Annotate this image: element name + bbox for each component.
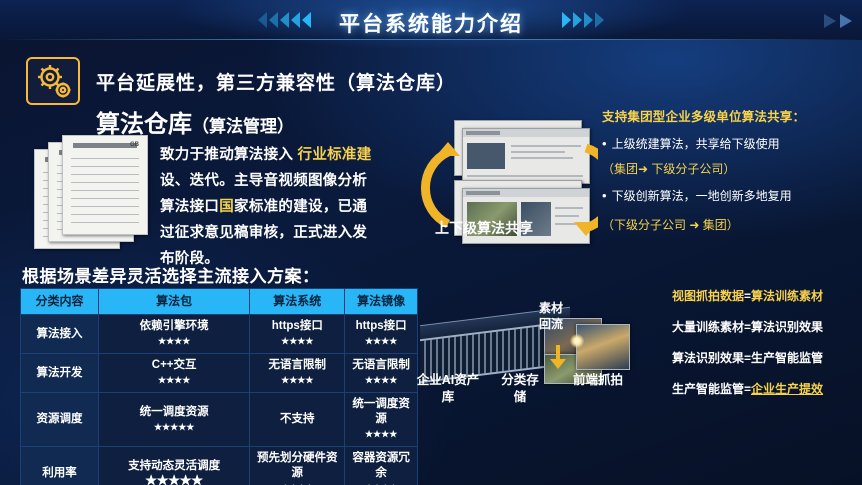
table-cell: 支持动态灵活调度★★★★★ [99, 447, 250, 485]
eq-sign: = [744, 351, 751, 365]
cell-stars: ★★★★ [347, 334, 415, 349]
intro-heading-main: 算法仓库 [96, 111, 192, 138]
table-cell: 统一调度资源★★★★★ [99, 393, 250, 447]
row-label: 算法开发 [21, 354, 99, 393]
eq-sign: = [744, 320, 751, 334]
table-cell: C++交互★★★★ [99, 354, 250, 393]
cell-text: 无语言限制 [352, 359, 410, 371]
cell-stars: ★★★★ [101, 373, 247, 388]
para-part1: 致力于推动算法接入 [160, 147, 298, 163]
intro-heading: 算法仓库（算法管理） [96, 104, 294, 139]
para-highlight-1: 行业标准建 [298, 147, 372, 163]
table-col-2: 算法系统 [250, 289, 345, 315]
eq-rhs: 算法训练素材 [751, 289, 823, 303]
eq-sign: = [744, 382, 751, 396]
slide-canvas: 平台系统能力介绍 [0, 0, 862, 485]
cell-stars: ★★★★ [252, 334, 342, 349]
eq-rhs: 生产智能监管 [751, 351, 823, 365]
table-cell: 不支持 [250, 393, 345, 447]
bullet-2-text: 下级创新算法，一地创新多地复用 [612, 188, 792, 205]
cell-text: 预先划分硬件资源 [257, 452, 338, 479]
equation-row: 生产智能监管=企业生产提效 [672, 381, 862, 397]
table-cell: 无语言限制★★★★ [250, 354, 345, 393]
table-col-1: 算法包 [99, 289, 250, 315]
table-row: 资源调度 统一调度资源★★★★★ 不支持 统一调度资源★★★★ [21, 393, 418, 447]
row-label: 资源调度 [21, 393, 99, 447]
eq-lhs: 生产智能监管 [672, 382, 744, 396]
equation-list: 视图抓拍数据=算法训练素材 大量训练素材=算法识别效果 算法识别效果=生产智能监… [672, 288, 862, 412]
bullet-dot-icon: • [602, 136, 607, 153]
para-part2: 设、迭代。 [160, 173, 234, 189]
eq-lhs: 视图抓拍数据 [672, 289, 744, 303]
table-row: 利用率 支持动态灵活调度★★★★★ 预先划分硬件资源★★★★ 容器资源冗余★★★… [21, 447, 418, 485]
cell-text: 容器资源冗余 [352, 452, 410, 479]
para-highlight-2: 国 [219, 199, 234, 215]
caption-classified-storage: 分类存储 [500, 372, 540, 406]
table-cell: https接口★★★★ [345, 315, 418, 354]
intro-heading-sub: （算法管理） [192, 117, 294, 136]
table-cell: https接口★★★★ [250, 315, 345, 354]
table-cell: 容器资源冗余★★★★ [345, 447, 418, 485]
sharing-bullets-title: 支持集团型企业多级单位算法共享： [602, 106, 852, 125]
cell-text: 不支持 [280, 413, 315, 425]
surveillance-capture-photo [576, 324, 630, 370]
page-title: 平台系统能力介绍 [0, 8, 862, 38]
table-col-3: 算法镜像 [345, 289, 418, 315]
cell-text: C++交互 [152, 359, 197, 371]
cell-stars: ★★★★ [347, 481, 415, 485]
access-plan-table: 分类内容 算法包 算法系统 算法镜像 算法接入 依赖引擎环境★★★★ https… [20, 288, 418, 485]
equation-row: 大量训练素材=算法识别效果 [672, 319, 862, 335]
list-item: • 下级创新算法，一地创新多地复用 [602, 188, 852, 205]
slide-header: 平台系统能力介绍 [0, 0, 862, 40]
intro-paragraph: 致力于推动算法接入 行业标准建设、迭代。主导音视频图像分析算法接口国家标准的建设… [160, 142, 378, 272]
down-arrow-icon [545, 345, 571, 371]
eq-lhs: 算法识别效果 [672, 351, 744, 365]
bullet-2-subtext: （下级分子公司 ➜ 集团） [602, 216, 852, 233]
eq-rhs: 企业生产提效 [751, 382, 823, 396]
cell-text: 支持动态灵活调度★★★★★ [128, 460, 220, 485]
flow-label: 素材回流 [534, 300, 568, 332]
cell-text: 统一调度资源 [352, 398, 410, 425]
cell-stars: ★★★★ [252, 373, 342, 388]
cell-text: https接口 [356, 320, 407, 332]
table-row: 算法开发 C++交互★★★★ 无语言限制★★★★ 无语言限制★★★★ [21, 354, 418, 393]
center-caption: 上下级算法共享 [424, 218, 544, 238]
caption-front-end-capture: 前端抓拍 [560, 372, 636, 389]
equation-row: 算法识别效果=生产智能监管 [672, 350, 862, 366]
cell-stars: ★★★★ [101, 334, 247, 349]
intro-line-1: 平台延展性，第三方兼容性（算法仓库） [96, 68, 456, 95]
document-badge-top: GB [130, 142, 139, 148]
section-heading: 根据场景差异灵活选择主流接入方案： [22, 262, 320, 287]
eq-sign: = [744, 289, 751, 303]
row-label: 算法接入 [21, 315, 99, 354]
table-cell: 依赖引擎环境★★★★ [99, 315, 250, 354]
cell-stars: ★★★★ [347, 373, 415, 388]
table-row: 算法接入 依赖引擎环境★★★★ https接口★★★★ https接口★★★★ [21, 315, 418, 354]
equation-row: 视图抓拍数据=算法训练素材 [672, 288, 862, 304]
eq-rhs: 算法识别效果 [751, 320, 823, 334]
cell-stars: ★★★★ [252, 481, 342, 485]
cell-stars: ★★★★ [347, 427, 415, 442]
highlight-glow [570, 334, 584, 348]
row-label: 利用率 [21, 447, 99, 485]
bullet-1-subtext: （集团➜ 下级分子公司） [602, 160, 852, 177]
table-header-row: 分类内容 算法包 算法系统 算法镜像 [21, 289, 418, 315]
gears-icon [26, 57, 80, 105]
cell-text: 依赖引擎环境 [140, 320, 209, 332]
caption-asset-library: 企业AI资产库 [416, 372, 480, 406]
table-col-0: 分类内容 [21, 289, 99, 315]
sharing-bullets: 支持集团型企业多级单位算法共享： • 上级统建算法，共享给下级使用 （集团➜ 下… [602, 106, 852, 233]
cell-text: 无语言限制 [269, 359, 327, 371]
table-cell: 无语言限制★★★★ [345, 354, 418, 393]
table-cell: 统一调度资源★★★★ [345, 393, 418, 447]
list-item: • 上级统建算法，共享给下级使用 [602, 136, 852, 153]
cell-stars: ★★★★★ [101, 420, 247, 435]
bullet-1-text: 上级统建算法，共享给下级使用 [612, 136, 780, 153]
eq-lhs: 大量训练素材 [672, 320, 744, 334]
table-cell: 预先划分硬件资源★★★★ [250, 447, 345, 485]
bullet-dot-icon: • [602, 188, 607, 205]
cell-text: https接口 [272, 320, 323, 332]
standard-document: GB [62, 135, 148, 235]
standard-document-stack: GB GB [34, 135, 164, 245]
cell-text: 统一调度资源 [140, 406, 209, 418]
